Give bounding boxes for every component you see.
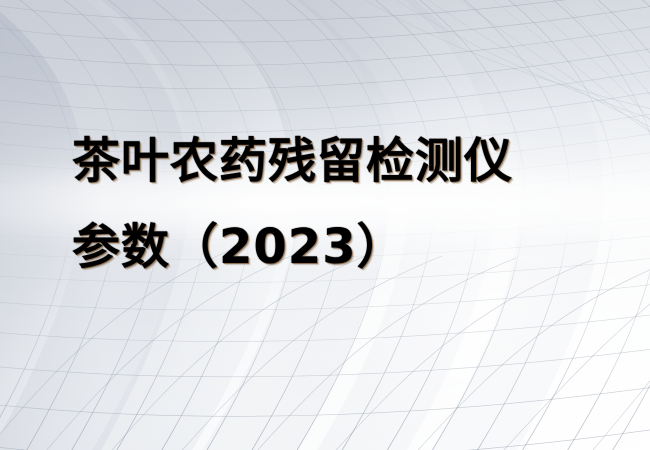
title-slide: 茶叶农药残留检测仪 参数（2023） [0,0,650,450]
title-line-1: 茶叶农药残留检测仪 [72,118,592,204]
page-title: 茶叶农药残留检测仪 参数（2023） [72,118,592,290]
title-line-2: 参数（2023） [72,204,592,290]
